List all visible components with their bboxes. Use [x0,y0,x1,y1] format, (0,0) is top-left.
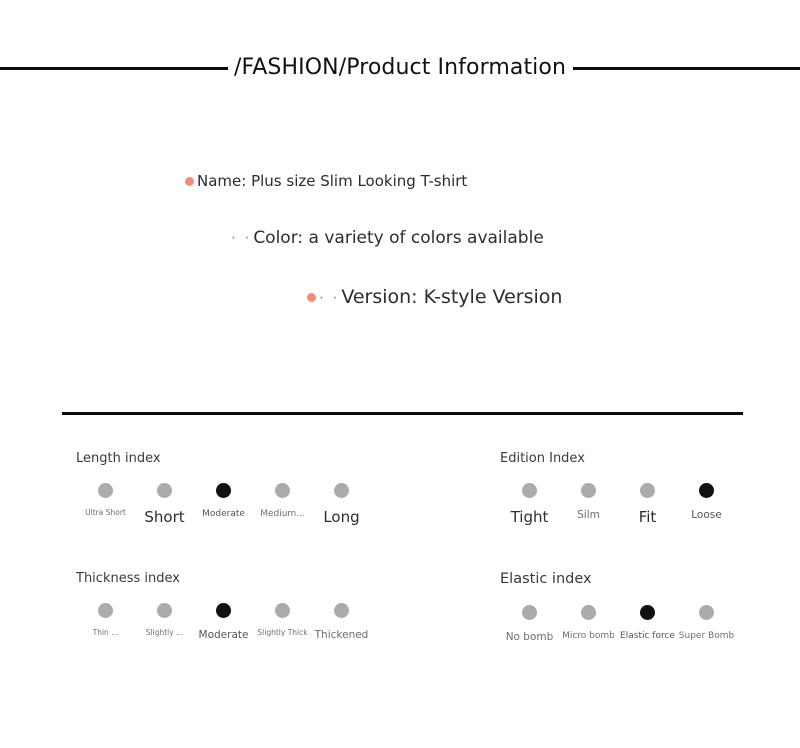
index-grid: Length index Ultra Short Short Moderate … [0,452,800,692]
option-bubble-icon[interactable] [98,603,113,618]
index-row-bottom: Thickness index Thin ... Slightly ... Mo… [0,572,800,692]
option-bubble-icon[interactable] [98,483,113,498]
title-rule-right [573,67,800,70]
index-panel-title: Thickness index [76,572,371,585]
coral-bullet-dot [307,293,316,302]
option-label: Thin ... [76,629,135,638]
option-bubble-icon[interactable] [640,483,655,498]
option-label: Slightly Thick [253,629,312,638]
option-label: Thickened [312,629,371,641]
index-option[interactable]: Slightly Thick [253,603,312,638]
index-option-selected[interactable]: Moderate [194,483,253,520]
product-info-line: · · Version: K-style Version [307,286,800,310]
product-info-line: · · Color: a variety of colors available [231,228,800,249]
option-label: Moderate [194,509,253,520]
option-bubble-icon[interactable] [699,605,714,620]
coral-bullet-dot [185,177,194,186]
index-option[interactable]: Short [135,483,194,527]
index-option-selected[interactable]: Loose [677,483,736,521]
option-label: Ultra Short [76,509,135,518]
index-option[interactable]: Thickened [312,603,371,641]
option-label: Tight [500,509,559,527]
option-bubble-icon[interactable] [216,603,231,618]
index-option[interactable]: Ultra Short [76,483,135,518]
option-label: Medium... [253,509,312,520]
product-info-text: Version: K-style Version [341,286,562,310]
option-label: Elastic force [618,631,677,642]
option-label: Silm [559,509,618,521]
index-panel-length: Length index Ultra Short Short Moderate … [76,452,371,527]
option-bubble-icon[interactable] [581,605,596,620]
index-option-scale: No bomb Micro bomb Elastic force Super B… [500,605,736,643]
index-panel-title: Length index [76,452,371,465]
option-label: Long [312,509,371,527]
option-bubble-icon[interactable] [157,483,172,498]
option-label: Short [135,509,194,527]
index-panel-title: Edition Index [500,452,736,465]
title-rule-left [0,67,228,70]
index-option[interactable]: Super Bomb [677,605,736,642]
product-info-line: Name: Plus size Slim Looking T-shirt [185,172,800,191]
index-panel-thickness: Thickness index Thin ... Slightly ... Mo… [76,572,371,641]
index-option-selected[interactable]: Elastic force [618,605,677,642]
index-option[interactable]: Long [312,483,371,527]
page-title: /FASHION/Product Information [232,57,568,79]
option-bubble-icon[interactable] [640,605,655,620]
index-option-selected[interactable]: Moderate [194,603,253,641]
index-row-top: Length index Ultra Short Short Moderate … [0,452,800,572]
option-label: Moderate [194,629,253,641]
index-option-scale: Ultra Short Short Moderate Medium... Lon… [76,483,371,527]
option-bubble-icon[interactable] [334,603,349,618]
index-option[interactable]: Medium... [253,483,312,520]
option-bubble-icon[interactable] [581,483,596,498]
option-bubble-icon[interactable] [699,483,714,498]
option-label: Loose [677,509,736,521]
option-label: Super Bomb [677,631,736,642]
index-option[interactable]: Fit [618,483,677,527]
index-panel-title: Elastic index [500,572,736,587]
option-bubble-icon[interactable] [334,483,349,498]
option-label: Slightly ... [135,629,194,638]
index-option[interactable]: Slightly ... [135,603,194,638]
option-bubble-icon[interactable] [275,603,290,618]
index-option[interactable]: Thin ... [76,603,135,638]
index-option-scale: Tight Silm Fit Loose [500,483,736,527]
middle-dots-icon: · · [231,229,251,247]
option-label: No bomb [500,631,559,643]
index-panel-edition: Edition Index Tight Silm Fit Loose [500,452,736,527]
product-info-text: Color: a variety of colors available [253,228,543,249]
product-info-list: Name: Plus size Slim Looking T-shirt · ·… [0,172,800,310]
option-bubble-icon[interactable] [157,603,172,618]
index-option-scale: Thin ... Slightly ... Moderate Slightly … [76,603,371,641]
option-label: Fit [618,509,677,527]
middle-dots-icon: · · [319,289,339,307]
section-divider [62,412,743,415]
index-option[interactable]: Micro bomb [559,605,618,642]
option-label: Micro bomb [559,631,618,642]
index-option[interactable]: No bomb [500,605,559,643]
index-option[interactable]: Silm [559,483,618,521]
index-panel-elastic: Elastic index No bomb Micro bomb Elastic… [500,572,736,643]
option-bubble-icon[interactable] [216,483,231,498]
index-option[interactable]: Tight [500,483,559,527]
product-info-text: Name: Plus size Slim Looking T-shirt [197,172,467,191]
option-bubble-icon[interactable] [522,605,537,620]
option-bubble-icon[interactable] [522,483,537,498]
option-bubble-icon[interactable] [275,483,290,498]
page-title-banner: /FASHION/Product Information [0,44,800,92]
